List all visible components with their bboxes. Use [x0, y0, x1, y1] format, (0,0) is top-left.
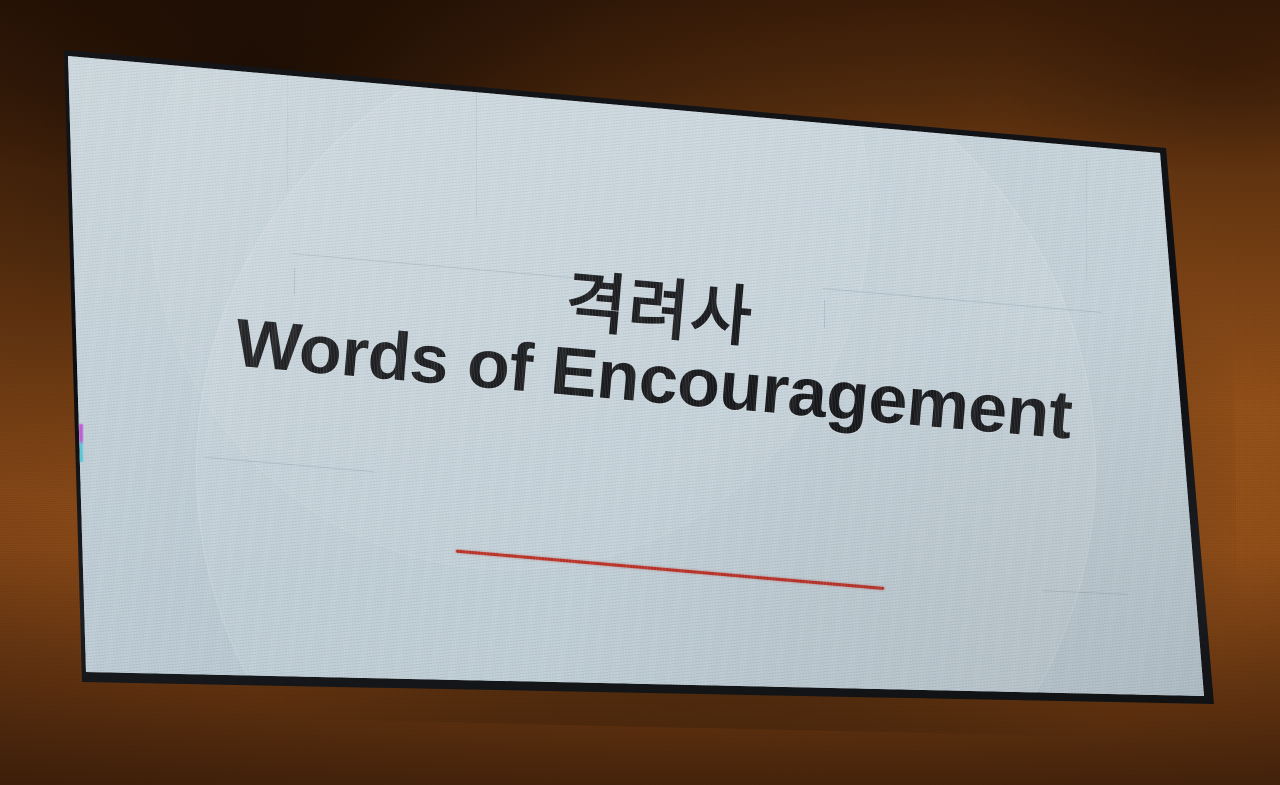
- wall-texture: [0, 0, 1280, 785]
- room-wall: [0, 0, 1280, 785]
- wall-vignette: [0, 0, 1280, 785]
